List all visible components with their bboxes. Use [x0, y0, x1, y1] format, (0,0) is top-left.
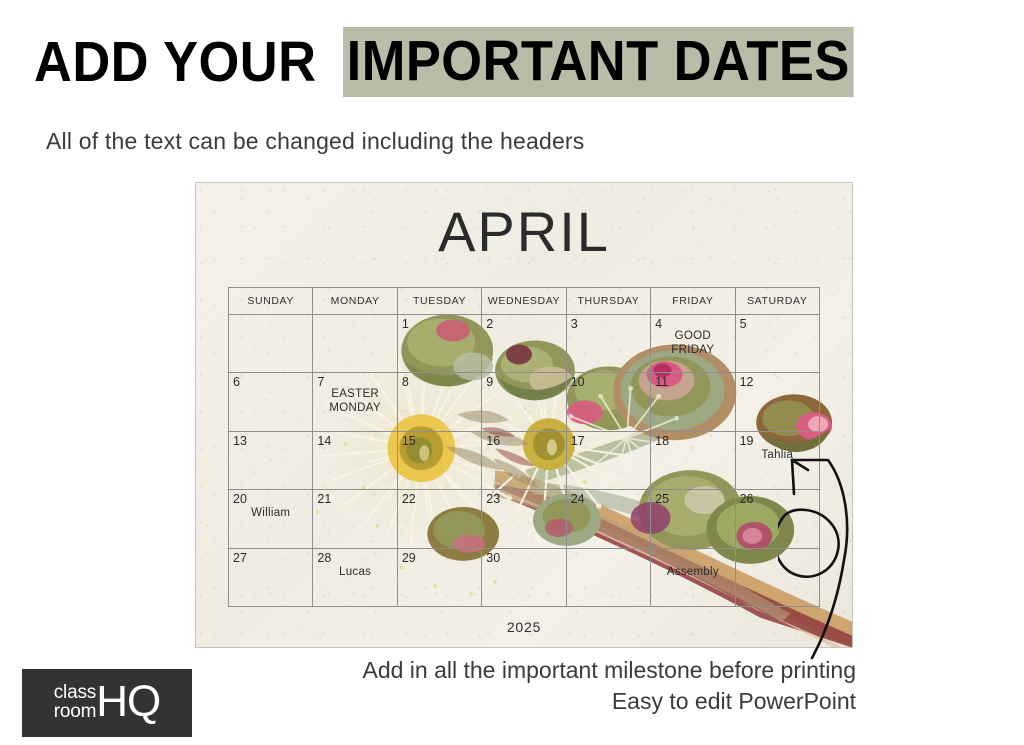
calendar-event-label[interactable]: EASTERMONDAY: [313, 387, 396, 415]
calendar-day-cell-1[interactable]: 1: [398, 315, 482, 373]
calendar-day-number: 18: [655, 434, 669, 449]
classroomhq-logo: class room HQ: [22, 669, 192, 737]
calendar-day-cell-8[interactable]: 8: [398, 373, 482, 431]
calendar-day-number: 21: [317, 492, 331, 507]
calendar-day-cell-28[interactable]: 28Lucas: [313, 549, 397, 607]
calendar-event-line: FRIDAY: [651, 343, 734, 357]
calendar-day-number: 6: [233, 375, 240, 390]
calendar-day-number: 10: [571, 375, 585, 390]
calendar-day-cell-14[interactable]: 14: [313, 432, 397, 490]
slide-canvas: ADD YOUR IMPORTANT DATES All of the text…: [0, 0, 1024, 745]
calendar-day-cell-6[interactable]: 6: [229, 373, 313, 431]
page-title: ADD YOUR IMPORTANT DATES: [34, 28, 898, 96]
calendar-event-line: William: [229, 506, 312, 520]
calendar-day-number: 3: [571, 317, 578, 332]
calendar-day-number: 2: [486, 317, 493, 332]
calendar-day-cell-12[interactable]: 12: [736, 373, 820, 431]
calendar-day-cell-24[interactable]: 24: [567, 490, 651, 548]
calendar-day-cell-empty[interactable]: [229, 315, 313, 373]
calendar-event-label[interactable]: Assembly: [651, 565, 734, 579]
calendar-day-number: 15: [402, 434, 416, 449]
calendar-event-label[interactable]: Lucas: [313, 565, 396, 579]
footer-note: Add in all the important milestone befor…: [362, 655, 856, 717]
calendar-day-number: 12: [740, 375, 754, 390]
calendar-day-cell-11[interactable]: 11: [651, 373, 735, 431]
calendar-day-number: 13: [233, 434, 247, 449]
calendar-day-cell-29[interactable]: 29: [398, 549, 482, 607]
calendar-day-cell-empty[interactable]: [736, 549, 820, 607]
calendar-day-cell-3[interactable]: 3: [567, 315, 651, 373]
page-title-highlighted: IMPORTANT DATES: [343, 27, 853, 97]
calendar-day-number: 24: [571, 492, 585, 507]
logo-line-1: class: [54, 683, 97, 702]
calendar-card: APRIL SUNDAYMONDAYTUESDAYWEDNESDAYTHURSD…: [195, 182, 853, 648]
calendar-event-line: Tahlia: [736, 448, 819, 462]
calendar-day-cell-26[interactable]: 26: [736, 490, 820, 548]
calendar-day-cell-4[interactable]: 4GOODFRIDAY: [651, 315, 735, 373]
calendar-day-cell-27[interactable]: 27: [229, 549, 313, 607]
calendar-day-cell-9[interactable]: 9: [482, 373, 566, 431]
calendar-day-cell-empty[interactable]: Assembly: [651, 549, 735, 607]
calendar-day-number: 28: [317, 551, 331, 566]
calendar-month-title: APRIL: [196, 199, 852, 264]
calendar-day-cell-20[interactable]: 20William: [229, 490, 313, 548]
calendar-day-cell-17[interactable]: 17: [567, 432, 651, 490]
calendar-event-label[interactable]: William: [229, 506, 312, 520]
page-title-plain: ADD YOUR: [34, 30, 316, 94]
calendar-day-cell-15[interactable]: 15: [398, 432, 482, 490]
footer-line-1: Add in all the important milestone befor…: [362, 655, 856, 686]
calendar-day-cell-16[interactable]: 16: [482, 432, 566, 490]
calendar-day-cell-empty[interactable]: [567, 549, 651, 607]
calendar-day-cell-21[interactable]: 21: [313, 490, 397, 548]
calendar-header-thursday: THURSDAY: [567, 288, 651, 315]
calendar-header-sunday: SUNDAY: [229, 288, 313, 315]
calendar-day-number: 20: [233, 492, 247, 507]
calendar-day-number: 23: [486, 492, 500, 507]
calendar-header-monday: MONDAY: [313, 288, 397, 315]
calendar-day-cell-30[interactable]: 30: [482, 549, 566, 607]
calendar-day-number: 27: [233, 551, 247, 566]
calendar-event-line: Assembly: [651, 565, 734, 579]
calendar-day-number: 29: [402, 551, 416, 566]
calendar-day-number: 22: [402, 492, 416, 507]
calendar-day-cell-empty[interactable]: [313, 315, 397, 373]
subtitle-text: All of the text can be changed including…: [46, 128, 585, 155]
calendar-day-number: 1: [402, 317, 409, 332]
calendar-grid: SUNDAYMONDAYTUESDAYWEDNESDAYTHURSDAYFRID…: [228, 287, 820, 607]
calendar-header-wednesday: WEDNESDAY: [482, 288, 566, 315]
calendar-event-line: GOOD: [651, 329, 734, 343]
calendar-day-number: 19: [740, 434, 754, 449]
logo-line-2: room: [54, 702, 97, 721]
calendar-day-number: 25: [655, 492, 669, 507]
calendar-day-number: 30: [486, 551, 500, 566]
calendar-header-friday: FRIDAY: [651, 288, 735, 315]
calendar-event-line: EASTER: [313, 387, 396, 401]
calendar-header-tuesday: TUESDAY: [398, 288, 482, 315]
calendar-day-number: 26: [740, 492, 754, 507]
calendar-event-label[interactable]: Tahlia: [736, 448, 819, 462]
calendar-day-cell-22[interactable]: 22: [398, 490, 482, 548]
calendar-day-number: 8: [402, 375, 409, 390]
calendar-day-cell-2[interactable]: 2: [482, 315, 566, 373]
calendar-event-label[interactable]: GOODFRIDAY: [651, 329, 734, 357]
calendar-day-number: 17: [571, 434, 585, 449]
calendar-day-cell-13[interactable]: 13: [229, 432, 313, 490]
calendar-day-number: 16: [486, 434, 500, 449]
calendar-day-cell-19[interactable]: 19Tahlia: [736, 432, 820, 490]
calendar-day-cell-7[interactable]: 7EASTERMONDAY: [313, 373, 397, 431]
calendar-day-cell-10[interactable]: 10: [567, 373, 651, 431]
calendar-header-saturday: SATURDAY: [736, 288, 820, 315]
footer-line-2: Easy to edit PowerPoint: [362, 686, 856, 717]
calendar-day-number: 5: [740, 317, 747, 332]
calendar-day-number: 11: [655, 375, 668, 390]
calendar-day-number: 9: [486, 375, 493, 390]
calendar-event-line: MONDAY: [313, 401, 396, 415]
calendar-event-line: Lucas: [313, 565, 396, 579]
logo-mark-hq: HQ: [96, 682, 160, 722]
calendar-day-cell-23[interactable]: 23: [482, 490, 566, 548]
calendar-day-cell-5[interactable]: 5: [736, 315, 820, 373]
calendar-day-cell-25[interactable]: 25: [651, 490, 735, 548]
calendar-day-cell-18[interactable]: 18: [651, 432, 735, 490]
calendar-year-label: 2025: [196, 619, 852, 635]
calendar-day-number: 14: [317, 434, 331, 449]
